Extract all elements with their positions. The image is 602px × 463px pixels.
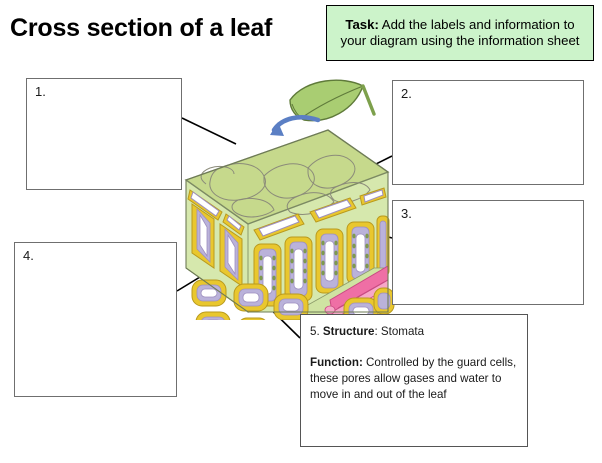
structure-value: Stomata xyxy=(381,325,424,338)
answer-box-1[interactable]: 1. xyxy=(26,78,182,190)
task-banner-text: Task: Add the labels and information to … xyxy=(333,17,587,50)
answer-box-4[interactable]: 4. xyxy=(14,242,177,397)
leaf-icon xyxy=(290,80,374,120)
leaf-cross-section-diagram xyxy=(178,72,410,320)
answer-box-2-number: 2. xyxy=(401,86,412,101)
answer-box-4-number: 4. xyxy=(23,248,34,263)
paragraph-gap xyxy=(310,340,517,355)
info-box-5-stomata[interactable]: 5. Structure: Stomata Function: Controll… xyxy=(300,314,528,447)
info-box-5-number: 5. xyxy=(310,325,320,338)
answer-box-3-number: 3. xyxy=(401,206,412,221)
task-label: Task: xyxy=(345,17,378,32)
arrow-icon xyxy=(270,117,318,136)
page-title: Cross section of a leaf xyxy=(10,14,272,43)
answer-box-1-number: 1. xyxy=(35,84,46,99)
worksheet-page: Cross section of a leaf Task: Add the la… xyxy=(0,0,602,463)
leaf-block xyxy=(186,130,394,320)
structure-label: Structure xyxy=(323,325,375,338)
task-banner: Task: Add the labels and information to … xyxy=(326,5,594,61)
structure-line: 5. Structure: Stomata xyxy=(310,324,517,340)
answer-box-3[interactable]: 3. xyxy=(392,200,584,305)
function-line: Function: Controlled by the guard cells,… xyxy=(310,355,517,403)
answer-box-2[interactable]: 2. xyxy=(392,80,584,185)
function-label: Function: xyxy=(310,356,363,369)
